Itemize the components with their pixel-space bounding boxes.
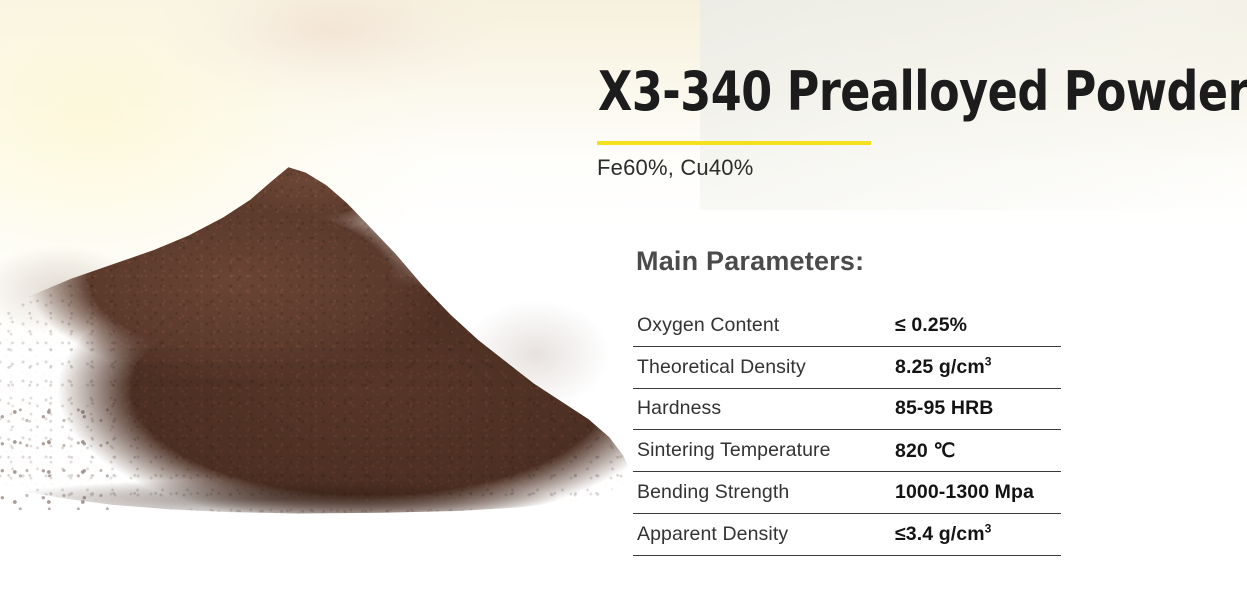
table-row: Theoretical Density8.25 g/cm3 (633, 347, 1061, 389)
parameter-value: ≤ 0.25% (895, 314, 1061, 337)
unit-exponent: 3 (985, 354, 992, 368)
parameter-value: 820 ℃ (895, 439, 1061, 463)
table-row: Bending Strength1000-1300 Mpa (633, 472, 1061, 514)
parameter-value: ≤3.4 g/cm3 (895, 523, 1061, 546)
powder-scattered-particles (0, 400, 110, 510)
parameter-value: 8.25 g/cm3 (895, 356, 1061, 379)
parameter-value: 85-95 HRB (895, 397, 1061, 420)
parameter-value: 1000-1300 Mpa (895, 481, 1061, 504)
parameter-label: Oxygen Content (633, 314, 895, 337)
page-title: X3-340 Prealloyed Powder (598, 62, 1202, 122)
table-row: Sintering Temperature820 ℃ (633, 430, 1061, 472)
parameter-label: Theoretical Density (633, 356, 895, 379)
product-banner: X3-340 Prealloyed Powder Fe60%, Cu40% Ma… (0, 0, 1247, 600)
table-row: Oxygen Content≤ 0.25% (633, 305, 1061, 347)
title-accent-underline (597, 141, 871, 145)
product-composition: Fe60%, Cu40% (597, 155, 754, 181)
parameter-label: Hardness (633, 397, 895, 420)
unit-exponent: 3 (985, 521, 992, 535)
parameter-label: Bending Strength (633, 481, 895, 504)
parameter-label: Sintering Temperature (633, 439, 895, 462)
table-row: Apparent Density≤3.4 g/cm3 (633, 514, 1061, 556)
background-blush-wash (150, 0, 550, 150)
table-row: Hardness85-95 HRB (633, 389, 1061, 431)
parameter-label: Apparent Density (633, 523, 895, 546)
parameters-heading: Main Parameters: (636, 246, 864, 277)
parameters-table: Oxygen Content≤ 0.25%Theoretical Density… (633, 305, 1061, 556)
product-powder-image (0, 160, 630, 520)
